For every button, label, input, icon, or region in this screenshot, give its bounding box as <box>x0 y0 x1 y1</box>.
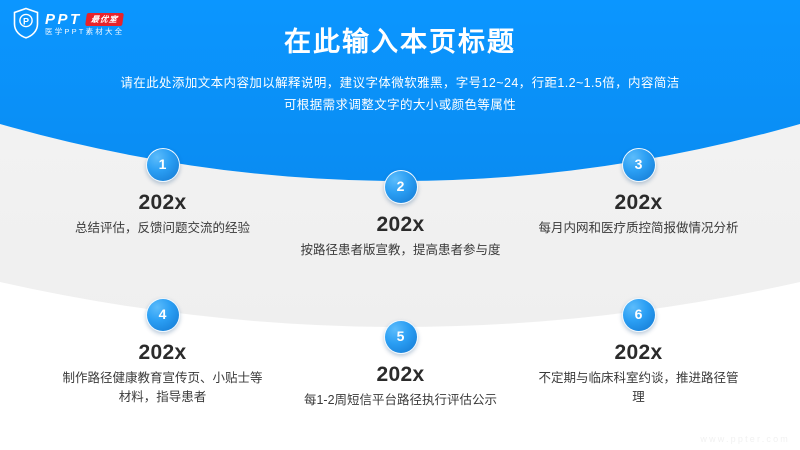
timeline-bubble-2[interactable]: 2 <box>384 170 418 204</box>
timeline-desc-2: 按路径患者版宣教，提高患者参与度 <box>283 241 518 260</box>
page-subtitle: 请在此处添加文本内容加以解释说明，建议字体微软雅黑，字号12~24，行距1.2~… <box>50 72 750 116</box>
page-title: 在此输入本页标题 <box>0 20 800 59</box>
timeline-year-1: 202x <box>45 191 280 215</box>
timeline-desc-3: 每月内网和医疗质控简报做情况分析 <box>521 219 756 238</box>
timeline-year-6: 202x <box>521 341 756 365</box>
timeline-desc-1: 总结评估，反馈问题交流的经验 <box>45 219 280 238</box>
timeline-item-4[interactable]: 4 202x 制作路径健康教育宣传页、小贴士等材料，指导患者 <box>45 298 280 407</box>
subtitle-line-1: 请在此处添加文本内容加以解释说明，建议字体微软雅黑，字号12~24，行距1.2~… <box>50 72 750 94</box>
timeline-item-3[interactable]: 3 202x 每月内网和医疗质控简报做情况分析 <box>521 148 756 238</box>
timeline-year-3: 202x <box>521 191 756 215</box>
timeline-desc-6: 不定期与临床科室约谈，推进路径管理 <box>521 369 756 407</box>
timeline-desc-4: 制作路径健康教育宣传页、小贴士等材料，指导患者 <box>45 369 280 407</box>
timeline-bubble-3[interactable]: 3 <box>622 148 656 182</box>
timeline-desc-5: 每1-2周短信平台路径执行评估公示 <box>283 391 518 410</box>
subtitle-line-2: 可根据需求调整文字的大小或颜色等属性 <box>50 94 750 116</box>
timeline-item-5[interactable]: 5 202x 每1-2周短信平台路径执行评估公示 <box>283 320 518 410</box>
timeline-bubble-6[interactable]: 6 <box>622 298 656 332</box>
site-watermark: www.ppter.com <box>700 434 790 444</box>
timeline-item-6[interactable]: 6 202x 不定期与临床科室约谈，推进路径管理 <box>521 298 756 407</box>
timeline-item-2[interactable]: 2 202x 按路径患者版宣教，提高患者参与度 <box>283 170 518 260</box>
timeline-year-5: 202x <box>283 363 518 387</box>
timeline-bubble-1[interactable]: 1 <box>146 148 180 182</box>
timeline-bubble-5[interactable]: 5 <box>384 320 418 354</box>
slide-canvas: P PPT 最优室 医学PPT素材大全 在此输入本页标题 请在此处添加文本内容加… <box>0 0 800 450</box>
timeline-year-2: 202x <box>283 213 518 237</box>
timeline-bubble-4[interactable]: 4 <box>146 298 180 332</box>
timeline-item-1[interactable]: 1 202x 总结评估，反馈问题交流的经验 <box>45 148 280 238</box>
timeline-year-4: 202x <box>45 341 280 365</box>
